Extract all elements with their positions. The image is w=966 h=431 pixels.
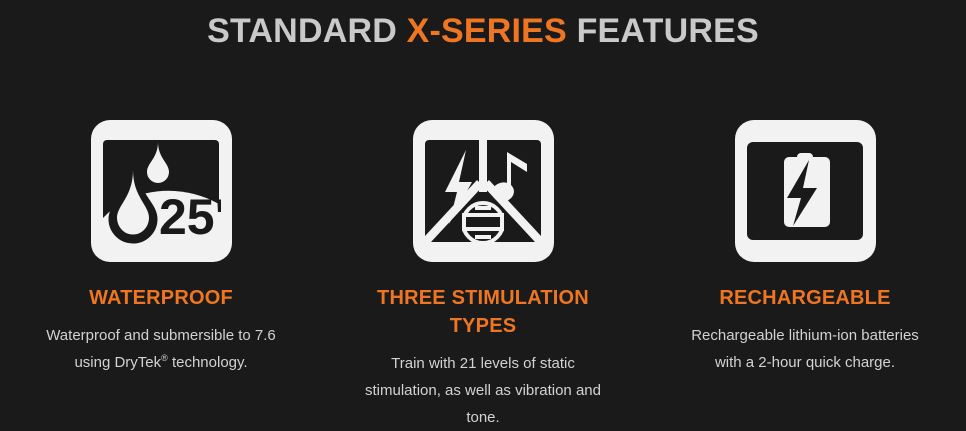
waterproof-depth-icon: 25'	[91, 120, 232, 262]
three-stimulation-types-icon	[413, 120, 554, 262]
feature-desc-rechargeable: Rechargeable lithium-ion batteries with …	[676, 322, 934, 376]
features-section: STANDARD X-SERIES FEATURES 25'	[0, 0, 966, 431]
feature-desc-text: Rechargeable lithium-ion batteries with …	[691, 327, 919, 371]
page-title: STANDARD X-SERIES FEATURES	[0, 9, 966, 53]
waterproof-depth-label: 25'	[159, 189, 221, 245]
page-title-accent: X-SERIES	[407, 12, 567, 50]
feature-item-waterproof: 25' WATERPROOF Waterproof and submersibl…	[0, 104, 322, 376]
feature-item-rechargeable: RECHARGEABLE Rechargeable lithium-ion ba…	[644, 104, 966, 376]
feature-desc-text: Train with 21 levels of static stimulati…	[365, 355, 601, 426]
page-title-part1: STANDARD	[207, 12, 407, 50]
feature-list: 25' WATERPROOF Waterproof and submersibl…	[0, 104, 966, 431]
feature-title-waterproof: WATERPROOF	[89, 284, 233, 312]
feature-desc-waterproof: Waterproof and submersible to 7.6 using …	[32, 322, 290, 376]
feature-desc-stimulation: Train with 21 levels of static stimulati…	[354, 350, 612, 431]
feature-title-stimulation: THREE STIMULATION TYPES	[353, 284, 613, 340]
feature-title-rechargeable: RECHARGEABLE	[719, 284, 890, 312]
feature-desc-text-tail: technology.	[168, 354, 248, 371]
page-title-part2: FEATURES	[567, 12, 759, 50]
registered-mark: ®	[161, 353, 168, 363]
feature-item-stimulation: THREE STIMULATION TYPES Train with 21 le…	[322, 104, 644, 431]
rechargeable-battery-icon	[735, 120, 876, 262]
